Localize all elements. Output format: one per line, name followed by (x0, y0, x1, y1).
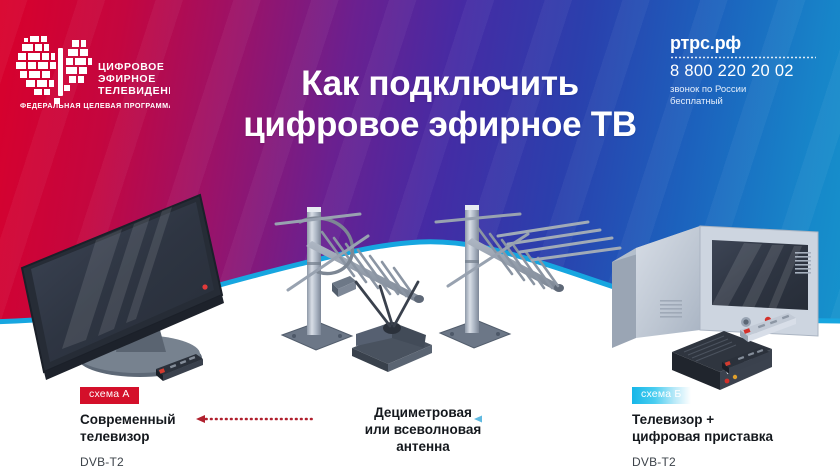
scheme-b-title-line-1: Телевизор + (632, 411, 822, 428)
scheme-column-b: схема Б Телевизор + цифровая приставка D… (632, 384, 822, 467)
modern-flat-tv-icon (22, 195, 224, 381)
poster-root: ЦИФРОВОЕ ЭФИРНОЕ ТЕЛЕВИДЕНИЕ ФЕДЕРАЛЬНАЯ… (0, 0, 840, 467)
page-title: Как подключить цифровое эфирное ТВ (0, 64, 840, 145)
status-badge-scheme-b: схема Б (632, 387, 691, 404)
scheme-b-title-line-2: цифровая приставка (632, 428, 822, 445)
antenna-title: Дециметровая или всеволновая антенна (318, 404, 528, 455)
scheme-column-a: схема А Современный телевизор DVB-T2 (80, 384, 250, 467)
scheme-b-title: Телевизор + цифровая приставка (632, 411, 822, 445)
scheme-b-standard: DVB-T2 (632, 455, 822, 467)
antenna-title-line-2: или всеволновая (318, 421, 528, 438)
title-line-1: Как подключить (301, 64, 579, 103)
website-link[interactable]: ртрс.рф (670, 34, 826, 52)
scheme-column-antenna: Дециметровая или всеволновая антенна (318, 384, 528, 455)
scheme-captions: схема А Современный телевизор DVB-T2 Дец… (0, 384, 840, 467)
scheme-a-title-line-1: Современный (80, 411, 250, 428)
yagi-antenna-mast-icon (436, 205, 620, 348)
scheme-a-title: Современный телевизор (80, 411, 250, 445)
antenna-title-line-1: Дециметровая (318, 404, 528, 421)
scheme-a-standard: DVB-T2 (80, 455, 250, 467)
antenna-title-line-3: антенна (318, 438, 528, 455)
contact-dotted-rule (670, 56, 816, 59)
status-badge-scheme-a: схема А (80, 387, 139, 404)
title-line-2: цифровое эфирное ТВ (40, 105, 840, 146)
crt-tv-icon (612, 226, 818, 348)
scheme-a-title-line-2: телевизор (80, 428, 250, 445)
